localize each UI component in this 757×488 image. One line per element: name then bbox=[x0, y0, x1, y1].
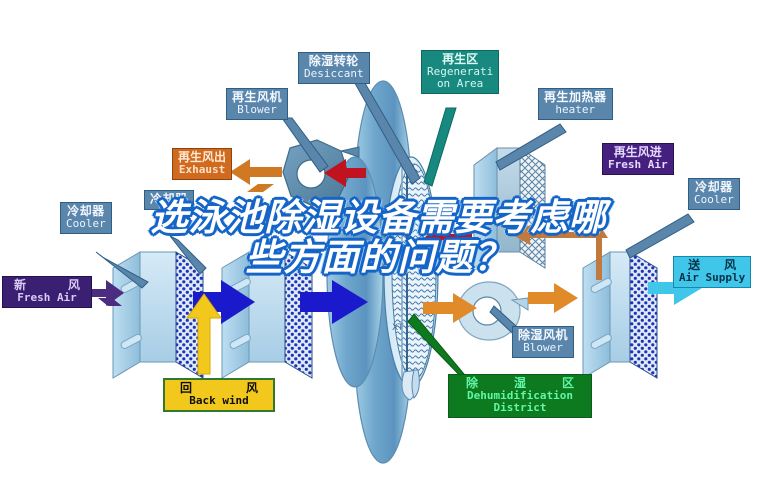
label-regeneration-heater[interactable]: 再生加热器 heater bbox=[538, 88, 613, 120]
label-regeneration-exhaust[interactable]: 再生风出 Exhaust bbox=[172, 148, 232, 180]
label-regeneration-blower-cn: 再生风机 bbox=[232, 91, 282, 104]
label-desiccant-en: Desiccant bbox=[304, 68, 364, 80]
label-fresh-air-en: Fresh Air bbox=[8, 292, 86, 304]
callout-leader-lines bbox=[0, 0, 757, 488]
label-desiccant[interactable]: 除湿转轮 Desiccant bbox=[298, 52, 370, 84]
label-air-supply-cn: 送 风 bbox=[679, 259, 745, 272]
label-dehumidification-blower[interactable]: 除湿风机 Blower bbox=[512, 326, 574, 358]
label-cooler-left-1-cn: 冷却器 bbox=[66, 205, 106, 218]
label-regeneration-exhaust-en: Exhaust bbox=[178, 164, 226, 176]
label-regeneration-heater-cn: 再生加热器 bbox=[544, 91, 607, 104]
label-cooler-right-en: Cooler bbox=[694, 194, 734, 206]
label-cooler-right-cn: 冷却器 bbox=[694, 181, 734, 194]
label-regeneration-exhaust-cn: 再生风出 bbox=[178, 151, 226, 164]
label-air-supply[interactable]: 送 风 Air Supply bbox=[673, 256, 751, 288]
label-regeneration-fresh-air-en: Fresh Air bbox=[608, 159, 668, 171]
label-cooler-left-1[interactable]: 冷却器 Cooler bbox=[60, 202, 112, 234]
label-dehumidification-district-en2: District bbox=[454, 402, 586, 414]
label-cooler-left-1-en: Cooler bbox=[66, 218, 106, 230]
label-back-wind-en: Back wind bbox=[170, 395, 268, 407]
label-regeneration-blower[interactable]: 再生风机 Blower bbox=[226, 88, 288, 120]
label-regeneration-blower-en: Blower bbox=[232, 104, 282, 116]
label-regeneration-area[interactable]: 再生区 Regenerati on Area bbox=[421, 50, 499, 94]
label-regeneration-fresh-air[interactable]: 再生风进 Fresh Air bbox=[602, 143, 674, 175]
label-fresh-air-cn: 新 风 bbox=[8, 279, 86, 292]
label-dehumidification-district-cn: 除 湿 区 bbox=[454, 377, 586, 390]
label-regeneration-fresh-air-cn: 再生风进 bbox=[608, 146, 668, 159]
diagram-canvas: XT bbox=[0, 0, 757, 488]
label-dehumidification-blower-en: Blower bbox=[518, 342, 568, 354]
label-back-wind-cn: 回 风 bbox=[170, 382, 268, 395]
label-cooler-left-2[interactable]: 冷却器 bbox=[144, 190, 194, 210]
label-fresh-air[interactable]: 新 风 Fresh Air bbox=[2, 276, 92, 308]
label-dehumidification-blower-cn: 除湿风机 bbox=[518, 329, 568, 342]
label-regeneration-heater-en: heater bbox=[544, 104, 607, 116]
label-dehumidification-district[interactable]: 除 湿 区 Dehumidification District bbox=[448, 374, 592, 418]
label-cooler-right[interactable]: 冷却器 Cooler bbox=[688, 178, 740, 210]
label-desiccant-cn: 除湿转轮 bbox=[304, 55, 364, 68]
label-regeneration-area-en2: on Area bbox=[427, 78, 493, 90]
label-regeneration-area-cn: 再生区 bbox=[427, 53, 493, 66]
label-back-wind[interactable]: 回 风 Back wind bbox=[163, 378, 275, 412]
label-cooler-left-2-cn: 冷却器 bbox=[150, 193, 188, 206]
label-air-supply-en: Air Supply bbox=[679, 272, 745, 284]
